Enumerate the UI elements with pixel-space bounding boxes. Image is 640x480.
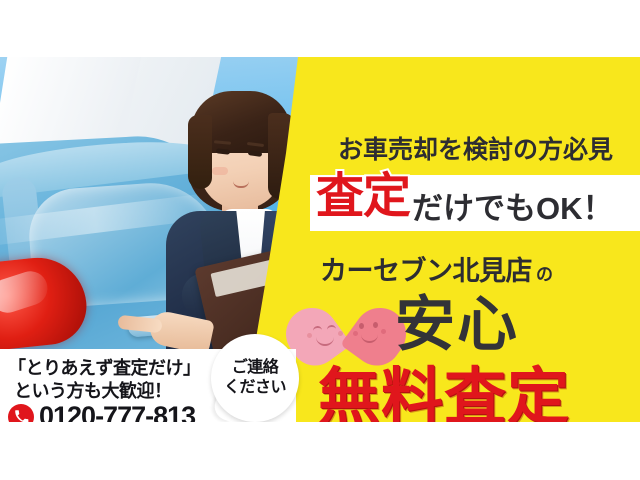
bubble-line2: ください [224,378,286,398]
phone-number: 0120-777-813 [39,401,195,422]
heart-right-eye-1 [359,323,364,329]
hair-side-left [188,115,212,189]
big-headline-anshin: 安心 [395,295,519,355]
heart-left-blush-1 [307,333,312,338]
emphasis-suffix: だけでもOK！ [412,183,614,228]
headline-line1: お車売却を検討の方必見 [338,133,630,167]
shop-name: カーセブン北見店 [320,256,532,286]
car-appraisal-banner: お車売却を検討の方必見 査定 だけでもOK！ カーセブン北見店の 安心 無料査定… [0,57,640,422]
heart-right-eye-2 [373,322,378,328]
heart-left-blush-2 [338,331,343,336]
phone-icon [8,404,34,423]
cheek-blush [212,167,228,175]
heart-right-blush-1 [353,331,358,336]
heart-right-blush-2 [381,329,386,334]
emphasis-satei: 査定 [316,173,410,221]
footer-note-line2: という方も大歓迎！ [14,377,214,403]
big-headline-muryou-satei: 無料査定 [318,367,570,422]
shop-name-row: カーセブン北見店の [320,249,640,283]
shop-particle: の [536,265,553,284]
headline-emphasis-row: 査定 だけでもOK！ [316,170,640,232]
heart-left-eye-2 [327,325,336,333]
heart-left-eye-1 [313,326,322,334]
bubble-line1: ご連絡 [232,358,279,378]
phone-row[interactable]: 0120-777-813 [8,401,195,422]
speech-bubble: ご連絡 ください [211,334,299,422]
